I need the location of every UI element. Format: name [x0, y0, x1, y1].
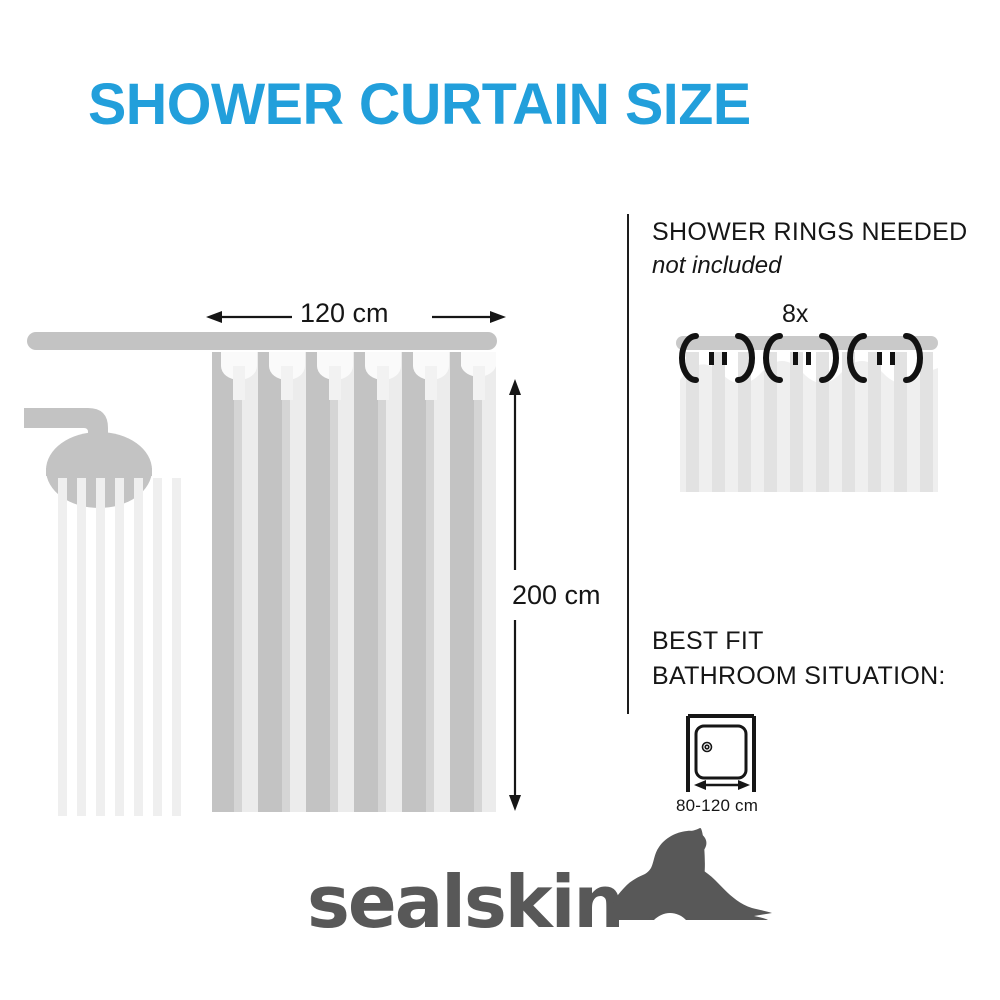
water-streams-icon: [58, 478, 181, 816]
ring-tick-icon: [709, 352, 895, 365]
best-fit-line-2: BATHROOM SITUATION:: [652, 662, 946, 691]
brand-logo-mark: [0, 0, 1000, 1000]
page-title: SHOWER CURTAIN SIZE: [88, 76, 751, 134]
shower-tray-illustration: [0, 0, 1000, 1000]
arrow-head-left: [206, 311, 222, 323]
ring-count-label: 8x: [782, 300, 808, 329]
main-illustration: [0, 0, 1000, 1000]
width-dimension-label: 120 cm: [300, 298, 389, 329]
shower-rings-illustration: [0, 0, 1000, 1000]
shower-rings-heading: SHOWER RINGS NEEDED: [652, 218, 967, 247]
height-dimension-label: 200 cm: [512, 580, 601, 611]
brand-wordmark: sealskin: [307, 866, 623, 938]
panel-divider: [627, 214, 629, 714]
drain-icon: [703, 743, 712, 752]
shower-head-icon: [24, 408, 152, 508]
curtain-tabs-icon: [221, 352, 496, 380]
curtain-icon: [212, 352, 496, 812]
arrow-head-right: [490, 311, 506, 323]
shower-rings-subheading: not included: [652, 252, 781, 280]
arrow-head-down: [509, 795, 521, 811]
best-fit-line-1: BEST FIT: [652, 627, 764, 656]
tray-width-label: 80-120 cm: [676, 796, 758, 816]
curtain-rod-icon: [27, 332, 497, 350]
shower-tray-icon: [688, 716, 754, 792]
tray-arrow-heads: [694, 780, 750, 790]
infographic-canvas: SHOWER CURTAIN SIZE: [0, 0, 1000, 1000]
seal-silhouette-icon: [610, 828, 772, 920]
arrow-head-up: [509, 379, 521, 395]
mini-curtain-rod-icon: [676, 336, 938, 350]
shower-ring-icon: [682, 336, 920, 380]
mini-curtain-icon: [680, 350, 938, 492]
